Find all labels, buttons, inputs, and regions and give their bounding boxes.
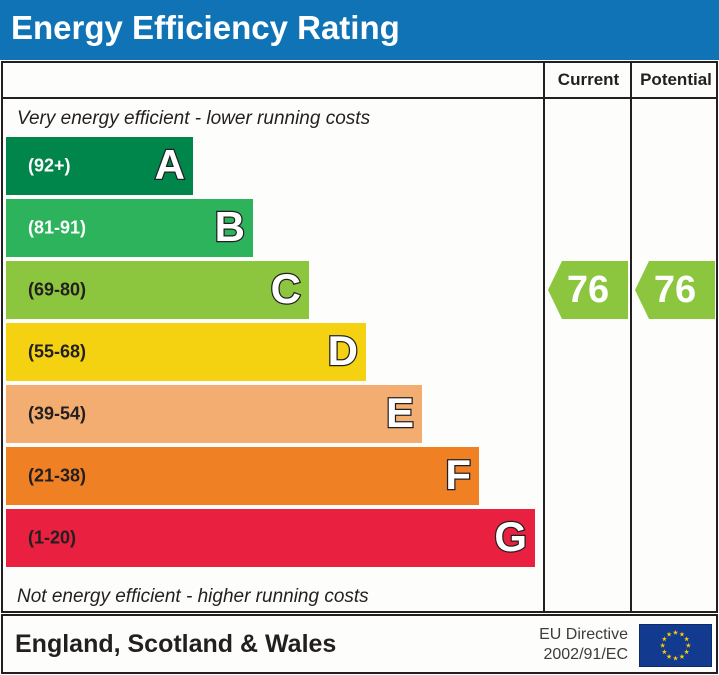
potential-rating-arrow: 76 [635,261,715,319]
column-divider-potential [630,63,632,612]
eu-flag-icon [639,624,712,667]
footer-directive-line2: 2002/91/EC [523,645,628,665]
footer-directive: EU Directive 2002/91/EC [523,625,628,665]
rating-band-a: (92+)A [6,137,193,195]
column-divider-current [543,63,545,612]
band-letter: E [386,392,414,434]
band-letter: D [328,330,358,372]
potential-rating-value: 76 [654,269,696,312]
rating-table: Current Potential Very energy efficient … [1,61,718,613]
footer-directive-line1: EU Directive [523,625,628,645]
band-range-label: (81-91) [28,218,86,239]
band-range-label: (69-80) [28,280,86,301]
rating-band-c: (69-80)C [6,261,309,319]
current-rating-arrow: 76 [548,261,628,319]
column-header-current: Current [545,70,632,90]
band-range-label: (39-54) [28,404,86,425]
rating-band-b: (81-91)B [6,199,253,257]
rating-band-d: (55-68)D [6,323,366,381]
column-header-potential: Potential [632,70,719,90]
band-range-label: (92+) [28,156,71,177]
band-letter: A [155,144,185,186]
footer-region-label: England, Scotland & Wales [15,630,336,659]
energy-efficiency-rating-certificate: Energy Efficiency Rating Current Potenti… [0,0,719,675]
current-rating-value: 76 [567,269,609,312]
rating-band-e: (39-54)E [6,385,422,443]
band-letter: F [445,454,471,496]
band-letter: B [215,206,245,248]
title-bar: Energy Efficiency Rating [0,0,719,60]
band-range-label: (21-38) [28,466,86,487]
rating-band-f: (21-38)F [6,447,479,505]
rating-band-g: (1-20)G [6,509,535,567]
footer-bar: England, Scotland & Wales EU Directive 2… [1,614,718,674]
band-letter: C [271,268,301,310]
band-range-label: (1-20) [28,528,76,549]
rating-bands: (92+)A(81-91)B(69-80)C(55-68)D(39-54)E(2… [3,63,541,612]
page-title: Energy Efficiency Rating [11,9,400,47]
band-letter: G [494,516,527,558]
band-range-label: (55-68) [28,342,86,363]
